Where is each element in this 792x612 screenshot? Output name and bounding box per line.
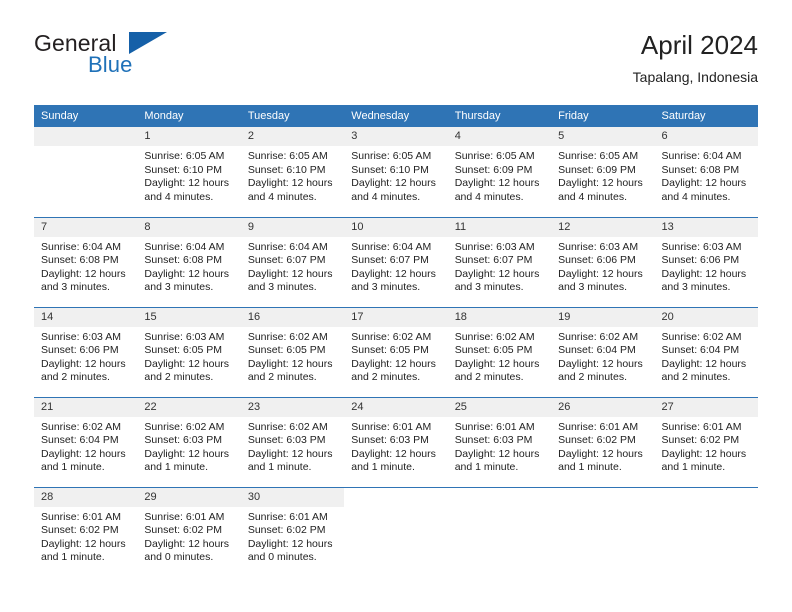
calendar-day-cell[interactable]: 1Sunrise: 6:05 AMSunset: 6:10 PMDaylight… bbox=[137, 127, 240, 217]
day-info-line: Daylight: 12 hours bbox=[455, 177, 545, 191]
day-info-line: and 2 minutes. bbox=[144, 371, 234, 385]
day-info-line: Sunset: 6:05 PM bbox=[248, 344, 338, 358]
calendar-day-cell[interactable]: 14Sunrise: 6:03 AMSunset: 6:06 PMDayligh… bbox=[34, 307, 137, 397]
calendar-day-cell[interactable]: 26Sunrise: 6:01 AMSunset: 6:02 PMDayligh… bbox=[551, 397, 654, 487]
day-info-line: Sunrise: 6:03 AM bbox=[662, 241, 752, 255]
calendar-day-cell[interactable]: 17Sunrise: 6:02 AMSunset: 6:05 PMDayligh… bbox=[344, 307, 447, 397]
day-info-line: Sunset: 6:04 PM bbox=[558, 344, 648, 358]
day-info-line: Sunset: 6:03 PM bbox=[248, 434, 338, 448]
day-number: 9 bbox=[241, 218, 344, 237]
day-info-line: Daylight: 12 hours bbox=[144, 538, 234, 552]
day-sun-info: Sunrise: 6:01 AMSunset: 6:02 PMDaylight:… bbox=[655, 417, 758, 475]
calendar-day-cell[interactable]: 19Sunrise: 6:02 AMSunset: 6:04 PMDayligh… bbox=[551, 307, 654, 397]
day-info-line: Daylight: 12 hours bbox=[248, 268, 338, 282]
day-sun-info: Sunrise: 6:02 AMSunset: 6:03 PMDaylight:… bbox=[241, 417, 344, 475]
day-sun-info: Sunrise: 6:05 AMSunset: 6:10 PMDaylight:… bbox=[241, 146, 344, 204]
calendar-day-cell[interactable]: 10Sunrise: 6:04 AMSunset: 6:07 PMDayligh… bbox=[344, 217, 447, 307]
day-info-line: Daylight: 12 hours bbox=[558, 358, 648, 372]
day-number: 23 bbox=[241, 398, 344, 417]
day-number: 24 bbox=[344, 398, 447, 417]
weekday-header-tuesday: Tuesday bbox=[241, 105, 344, 127]
day-info-line: and 1 minute. bbox=[351, 461, 441, 475]
day-sun-info: Sunrise: 6:04 AMSunset: 6:08 PMDaylight:… bbox=[34, 237, 137, 295]
calendar-empty-cell bbox=[344, 487, 447, 577]
day-sun-info: Sunrise: 6:01 AMSunset: 6:02 PMDaylight:… bbox=[34, 507, 137, 565]
day-info-line: and 3 minutes. bbox=[144, 281, 234, 295]
day-info-line: Sunrise: 6:03 AM bbox=[41, 331, 131, 345]
day-info-line: and 2 minutes. bbox=[248, 371, 338, 385]
day-sun-info: Sunrise: 6:02 AMSunset: 6:05 PMDaylight:… bbox=[241, 327, 344, 385]
day-info-line: and 2 minutes. bbox=[558, 371, 648, 385]
calendar-day-cell[interactable]: 5Sunrise: 6:05 AMSunset: 6:09 PMDaylight… bbox=[551, 127, 654, 217]
calendar-day-cell[interactable]: 11Sunrise: 6:03 AMSunset: 6:07 PMDayligh… bbox=[448, 217, 551, 307]
day-info-line: and 3 minutes. bbox=[455, 281, 545, 295]
day-info-line: Daylight: 12 hours bbox=[662, 358, 752, 372]
day-sun-info: Sunrise: 6:05 AMSunset: 6:09 PMDaylight:… bbox=[551, 146, 654, 204]
calendar-day-cell[interactable]: 9Sunrise: 6:04 AMSunset: 6:07 PMDaylight… bbox=[241, 217, 344, 307]
day-info-line: Sunset: 6:05 PM bbox=[351, 344, 441, 358]
day-info-line: Sunset: 6:04 PM bbox=[662, 344, 752, 358]
calendar-day-cell[interactable]: 12Sunrise: 6:03 AMSunset: 6:06 PMDayligh… bbox=[551, 217, 654, 307]
day-sun-info: Sunrise: 6:01 AMSunset: 6:02 PMDaylight:… bbox=[241, 507, 344, 565]
day-number: 18 bbox=[448, 308, 551, 327]
day-info-line: Sunset: 6:07 PM bbox=[351, 254, 441, 268]
page-header: General Blue April 2024 Tapalang, Indone… bbox=[34, 28, 758, 96]
general-blue-logo: General Blue bbox=[34, 30, 264, 86]
day-number: 1 bbox=[137, 127, 240, 146]
day-info-line: and 3 minutes. bbox=[558, 281, 648, 295]
day-info-line: Daylight: 12 hours bbox=[248, 448, 338, 462]
day-sun-info: Sunrise: 6:05 AMSunset: 6:10 PMDaylight:… bbox=[344, 146, 447, 204]
day-info-line: Daylight: 12 hours bbox=[248, 177, 338, 191]
day-info-line: Sunrise: 6:04 AM bbox=[662, 150, 752, 164]
day-info-line: Sunrise: 6:01 AM bbox=[662, 421, 752, 435]
day-info-line: Daylight: 12 hours bbox=[144, 448, 234, 462]
day-info-line: and 4 minutes. bbox=[558, 191, 648, 205]
day-number: 2 bbox=[241, 127, 344, 146]
day-sun-info: Sunrise: 6:02 AMSunset: 6:05 PMDaylight:… bbox=[448, 327, 551, 385]
calendar-day-cell[interactable]: 27Sunrise: 6:01 AMSunset: 6:02 PMDayligh… bbox=[655, 397, 758, 487]
day-info-line: Sunset: 6:05 PM bbox=[144, 344, 234, 358]
day-info-line: Daylight: 12 hours bbox=[455, 448, 545, 462]
weekday-header-monday: Monday bbox=[137, 105, 240, 127]
day-info-line: Daylight: 12 hours bbox=[144, 268, 234, 282]
day-info-line: and 2 minutes. bbox=[662, 371, 752, 385]
day-number: 27 bbox=[655, 398, 758, 417]
day-sun-info: Sunrise: 6:03 AMSunset: 6:06 PMDaylight:… bbox=[551, 237, 654, 295]
day-number bbox=[448, 488, 551, 507]
day-number: 25 bbox=[448, 398, 551, 417]
day-sun-info: Sunrise: 6:04 AMSunset: 6:08 PMDaylight:… bbox=[655, 146, 758, 204]
day-number: 22 bbox=[137, 398, 240, 417]
day-info-line: and 4 minutes. bbox=[455, 191, 545, 205]
day-info-line: Sunrise: 6:04 AM bbox=[248, 241, 338, 255]
day-info-line: Sunrise: 6:02 AM bbox=[41, 421, 131, 435]
day-sun-info: Sunrise: 6:04 AMSunset: 6:08 PMDaylight:… bbox=[137, 237, 240, 295]
day-number: 11 bbox=[448, 218, 551, 237]
day-info-line: Daylight: 12 hours bbox=[351, 448, 441, 462]
calendar-day-cell[interactable]: 13Sunrise: 6:03 AMSunset: 6:06 PMDayligh… bbox=[655, 217, 758, 307]
day-info-line: Sunset: 6:03 PM bbox=[144, 434, 234, 448]
day-number: 19 bbox=[551, 308, 654, 327]
day-info-line: Sunset: 6:07 PM bbox=[455, 254, 545, 268]
day-info-line: and 2 minutes. bbox=[455, 371, 545, 385]
day-info-line: Sunrise: 6:02 AM bbox=[351, 331, 441, 345]
day-number bbox=[655, 488, 758, 507]
calendar-empty-cell bbox=[655, 487, 758, 577]
day-info-line: Daylight: 12 hours bbox=[144, 358, 234, 372]
day-info-line: Sunrise: 6:05 AM bbox=[144, 150, 234, 164]
day-info-line: Sunset: 6:07 PM bbox=[248, 254, 338, 268]
day-info-line: Daylight: 12 hours bbox=[662, 448, 752, 462]
day-info-line: Sunset: 6:08 PM bbox=[662, 164, 752, 178]
day-info-line: and 1 minute. bbox=[455, 461, 545, 475]
calendar-body: 1Sunrise: 6:05 AMSunset: 6:10 PMDaylight… bbox=[34, 127, 758, 577]
day-number: 8 bbox=[137, 218, 240, 237]
day-info-line: Daylight: 12 hours bbox=[41, 358, 131, 372]
day-info-line: Sunset: 6:06 PM bbox=[662, 254, 752, 268]
day-info-line: and 4 minutes. bbox=[662, 191, 752, 205]
day-info-line: Sunrise: 6:05 AM bbox=[248, 150, 338, 164]
day-sun-info: Sunrise: 6:01 AMSunset: 6:02 PMDaylight:… bbox=[137, 507, 240, 565]
day-number bbox=[344, 488, 447, 507]
day-number: 20 bbox=[655, 308, 758, 327]
day-info-line: and 1 minute. bbox=[558, 461, 648, 475]
calendar-day-cell[interactable]: 25Sunrise: 6:01 AMSunset: 6:03 PMDayligh… bbox=[448, 397, 551, 487]
day-info-line: Daylight: 12 hours bbox=[144, 177, 234, 191]
day-info-line: Sunrise: 6:03 AM bbox=[558, 241, 648, 255]
calendar-day-cell[interactable]: 22Sunrise: 6:02 AMSunset: 6:03 PMDayligh… bbox=[137, 397, 240, 487]
day-info-line: and 3 minutes. bbox=[351, 281, 441, 295]
calendar-table: Sunday Monday Tuesday Wednesday Thursday… bbox=[34, 105, 758, 577]
calendar-week-row: 7Sunrise: 6:04 AMSunset: 6:08 PMDaylight… bbox=[34, 217, 758, 307]
day-info-line: Sunrise: 6:05 AM bbox=[558, 150, 648, 164]
day-info-line: Sunrise: 6:02 AM bbox=[662, 331, 752, 345]
day-sun-info: Sunrise: 6:04 AMSunset: 6:07 PMDaylight:… bbox=[241, 237, 344, 295]
day-number: 13 bbox=[655, 218, 758, 237]
day-number: 7 bbox=[34, 218, 137, 237]
day-info-line: Daylight: 12 hours bbox=[351, 177, 441, 191]
day-info-line: Daylight: 12 hours bbox=[41, 448, 131, 462]
day-info-line: Sunset: 6:09 PM bbox=[455, 164, 545, 178]
day-info-line: Sunrise: 6:02 AM bbox=[144, 421, 234, 435]
day-info-line: Sunset: 6:10 PM bbox=[248, 164, 338, 178]
day-info-line: Sunrise: 6:01 AM bbox=[41, 511, 131, 525]
calendar-day-cell[interactable]: 29Sunrise: 6:01 AMSunset: 6:02 PMDayligh… bbox=[137, 487, 240, 577]
calendar-week-row: 21Sunrise: 6:02 AMSunset: 6:04 PMDayligh… bbox=[34, 397, 758, 487]
day-sun-info: Sunrise: 6:03 AMSunset: 6:06 PMDaylight:… bbox=[655, 237, 758, 295]
day-sun-info: Sunrise: 6:01 AMSunset: 6:03 PMDaylight:… bbox=[448, 417, 551, 475]
day-info-line: Daylight: 12 hours bbox=[558, 268, 648, 282]
day-info-line: Sunset: 6:10 PM bbox=[351, 164, 441, 178]
day-number: 4 bbox=[448, 127, 551, 146]
calendar-day-cell[interactable]: 2Sunrise: 6:05 AMSunset: 6:10 PMDaylight… bbox=[241, 127, 344, 217]
day-info-line: and 2 minutes. bbox=[351, 371, 441, 385]
day-number: 26 bbox=[551, 398, 654, 417]
day-number: 16 bbox=[241, 308, 344, 327]
day-sun-info: Sunrise: 6:02 AMSunset: 6:04 PMDaylight:… bbox=[551, 327, 654, 385]
day-sun-info: Sunrise: 6:03 AMSunset: 6:06 PMDaylight:… bbox=[34, 327, 137, 385]
day-info-line: Sunrise: 6:02 AM bbox=[248, 331, 338, 345]
day-info-line: Sunrise: 6:01 AM bbox=[144, 511, 234, 525]
day-info-line: Sunrise: 6:01 AM bbox=[351, 421, 441, 435]
day-sun-info: Sunrise: 6:05 AMSunset: 6:10 PMDaylight:… bbox=[137, 146, 240, 204]
day-info-line: and 2 minutes. bbox=[41, 371, 131, 385]
day-info-line: Daylight: 12 hours bbox=[455, 268, 545, 282]
title-block: April 2024 Tapalang, Indonesia bbox=[633, 28, 758, 88]
calendar-day-cell[interactable]: 28Sunrise: 6:01 AMSunset: 6:02 PMDayligh… bbox=[34, 487, 137, 577]
day-number: 14 bbox=[34, 308, 137, 327]
day-info-line: Sunset: 6:05 PM bbox=[455, 344, 545, 358]
logo-text-blue: Blue bbox=[88, 52, 132, 77]
day-number: 10 bbox=[344, 218, 447, 237]
day-sun-info: Sunrise: 6:04 AMSunset: 6:07 PMDaylight:… bbox=[344, 237, 447, 295]
day-info-line: Sunset: 6:08 PM bbox=[41, 254, 131, 268]
day-info-line: and 0 minutes. bbox=[248, 551, 338, 565]
triangle-icon bbox=[129, 32, 167, 54]
day-info-line: Daylight: 12 hours bbox=[41, 268, 131, 282]
calendar-empty-cell bbox=[34, 127, 137, 217]
calendar-week-row: 14Sunrise: 6:03 AMSunset: 6:06 PMDayligh… bbox=[34, 307, 758, 397]
calendar-week-row: 1Sunrise: 6:05 AMSunset: 6:10 PMDaylight… bbox=[34, 127, 758, 217]
day-info-line: and 3 minutes. bbox=[662, 281, 752, 295]
calendar-day-cell[interactable]: 21Sunrise: 6:02 AMSunset: 6:04 PMDayligh… bbox=[34, 397, 137, 487]
day-info-line: Daylight: 12 hours bbox=[662, 177, 752, 191]
day-sun-info: Sunrise: 6:01 AMSunset: 6:02 PMDaylight:… bbox=[551, 417, 654, 475]
day-info-line: Daylight: 12 hours bbox=[558, 177, 648, 191]
day-info-line: Sunrise: 6:02 AM bbox=[248, 421, 338, 435]
day-info-line: Daylight: 12 hours bbox=[455, 358, 545, 372]
day-info-line: Sunrise: 6:01 AM bbox=[248, 511, 338, 525]
day-sun-info: Sunrise: 6:02 AMSunset: 6:04 PMDaylight:… bbox=[655, 327, 758, 385]
day-info-line: Sunset: 6:02 PM bbox=[41, 524, 131, 538]
day-info-line: Sunrise: 6:01 AM bbox=[558, 421, 648, 435]
day-info-line: and 1 minute. bbox=[41, 461, 131, 475]
day-number: 12 bbox=[551, 218, 654, 237]
calendar-day-cell[interactable]: 20Sunrise: 6:02 AMSunset: 6:04 PMDayligh… bbox=[655, 307, 758, 397]
day-number: 17 bbox=[344, 308, 447, 327]
day-sun-info: Sunrise: 6:01 AMSunset: 6:03 PMDaylight:… bbox=[344, 417, 447, 475]
weekday-header-sunday: Sunday bbox=[34, 105, 137, 127]
day-info-line: Daylight: 12 hours bbox=[41, 538, 131, 552]
day-info-line: Sunrise: 6:04 AM bbox=[144, 241, 234, 255]
calendar-day-cell[interactable]: 7Sunrise: 6:04 AMSunset: 6:08 PMDaylight… bbox=[34, 217, 137, 307]
day-info-line: Daylight: 12 hours bbox=[248, 358, 338, 372]
day-sun-info: Sunrise: 6:03 AMSunset: 6:05 PMDaylight:… bbox=[137, 327, 240, 385]
calendar-page: General Blue April 2024 Tapalang, Indone… bbox=[0, 0, 792, 612]
day-info-line: Sunrise: 6:03 AM bbox=[144, 331, 234, 345]
calendar-day-cell[interactable]: 6Sunrise: 6:04 AMSunset: 6:08 PMDaylight… bbox=[655, 127, 758, 217]
weekday-header-wednesday: Wednesday bbox=[344, 105, 447, 127]
weekday-header-thursday: Thursday bbox=[448, 105, 551, 127]
day-info-line: Sunrise: 6:04 AM bbox=[351, 241, 441, 255]
calendar-day-cell[interactable]: 24Sunrise: 6:01 AMSunset: 6:03 PMDayligh… bbox=[344, 397, 447, 487]
day-info-line: Daylight: 12 hours bbox=[662, 268, 752, 282]
day-info-line: and 0 minutes. bbox=[144, 551, 234, 565]
day-sun-info: Sunrise: 6:02 AMSunset: 6:03 PMDaylight:… bbox=[137, 417, 240, 475]
day-sun-info: Sunrise: 6:03 AMSunset: 6:07 PMDaylight:… bbox=[448, 237, 551, 295]
day-number: 6 bbox=[655, 127, 758, 146]
calendar-day-cell[interactable]: 16Sunrise: 6:02 AMSunset: 6:05 PMDayligh… bbox=[241, 307, 344, 397]
day-info-line: Daylight: 12 hours bbox=[351, 268, 441, 282]
day-number: 30 bbox=[241, 488, 344, 507]
calendar-day-cell[interactable]: 18Sunrise: 6:02 AMSunset: 6:05 PMDayligh… bbox=[448, 307, 551, 397]
day-info-line: and 1 minute. bbox=[248, 461, 338, 475]
calendar-day-cell[interactable]: 3Sunrise: 6:05 AMSunset: 6:10 PMDaylight… bbox=[344, 127, 447, 217]
day-sun-info: Sunrise: 6:02 AMSunset: 6:04 PMDaylight:… bbox=[34, 417, 137, 475]
calendar-day-cell[interactable]: 15Sunrise: 6:03 AMSunset: 6:05 PMDayligh… bbox=[137, 307, 240, 397]
day-info-line: Sunset: 6:08 PM bbox=[144, 254, 234, 268]
day-info-line: Daylight: 12 hours bbox=[351, 358, 441, 372]
calendar-empty-cell bbox=[448, 487, 551, 577]
day-info-line: Sunrise: 6:04 AM bbox=[41, 241, 131, 255]
day-number: 5 bbox=[551, 127, 654, 146]
day-info-line: Sunrise: 6:02 AM bbox=[558, 331, 648, 345]
day-info-line: Sunset: 6:10 PM bbox=[144, 164, 234, 178]
day-info-line: and 3 minutes. bbox=[41, 281, 131, 295]
day-info-line: Sunset: 6:04 PM bbox=[41, 434, 131, 448]
day-info-line: Sunset: 6:02 PM bbox=[144, 524, 234, 538]
day-info-line: Sunset: 6:06 PM bbox=[41, 344, 131, 358]
day-info-line: and 4 minutes. bbox=[144, 191, 234, 205]
calendar-day-cell[interactable]: 23Sunrise: 6:02 AMSunset: 6:03 PMDayligh… bbox=[241, 397, 344, 487]
day-sun-info: Sunrise: 6:02 AMSunset: 6:05 PMDaylight:… bbox=[344, 327, 447, 385]
day-info-line: Sunset: 6:02 PM bbox=[662, 434, 752, 448]
day-number: 3 bbox=[344, 127, 447, 146]
calendar-day-cell[interactable]: 30Sunrise: 6:01 AMSunset: 6:02 PMDayligh… bbox=[241, 487, 344, 577]
weekday-header-saturday: Saturday bbox=[655, 105, 758, 127]
weekday-header-row: Sunday Monday Tuesday Wednesday Thursday… bbox=[34, 105, 758, 127]
day-number bbox=[551, 488, 654, 507]
page-title: April 2024 bbox=[633, 28, 758, 62]
day-info-line: Daylight: 12 hours bbox=[558, 448, 648, 462]
calendar-day-cell[interactable]: 4Sunrise: 6:05 AMSunset: 6:09 PMDaylight… bbox=[448, 127, 551, 217]
day-number bbox=[34, 127, 137, 146]
day-info-line: Sunset: 6:02 PM bbox=[558, 434, 648, 448]
day-info-line: Sunset: 6:02 PM bbox=[248, 524, 338, 538]
logo-blue-row: Blue bbox=[34, 54, 264, 79]
day-info-line: and 1 minute. bbox=[662, 461, 752, 475]
day-info-line: and 4 minutes. bbox=[248, 191, 338, 205]
day-sun-info: Sunrise: 6:05 AMSunset: 6:09 PMDaylight:… bbox=[448, 146, 551, 204]
page-subtitle: Tapalang, Indonesia bbox=[633, 66, 758, 88]
day-number: 15 bbox=[137, 308, 240, 327]
calendar-day-cell[interactable]: 8Sunrise: 6:04 AMSunset: 6:08 PMDaylight… bbox=[137, 217, 240, 307]
day-number: 21 bbox=[34, 398, 137, 417]
day-info-line: and 4 minutes. bbox=[351, 191, 441, 205]
calendar-empty-cell bbox=[551, 487, 654, 577]
day-info-line: and 1 minute. bbox=[41, 551, 131, 565]
day-info-line: Sunrise: 6:03 AM bbox=[455, 241, 545, 255]
day-info-line: Sunrise: 6:01 AM bbox=[455, 421, 545, 435]
day-number: 28 bbox=[34, 488, 137, 507]
day-info-line: Daylight: 12 hours bbox=[248, 538, 338, 552]
day-info-line: and 1 minute. bbox=[144, 461, 234, 475]
day-info-line: Sunset: 6:03 PM bbox=[351, 434, 441, 448]
day-info-line: Sunset: 6:03 PM bbox=[455, 434, 545, 448]
day-info-line: Sunrise: 6:02 AM bbox=[455, 331, 545, 345]
day-info-line: Sunrise: 6:05 AM bbox=[351, 150, 441, 164]
day-info-line: Sunset: 6:06 PM bbox=[558, 254, 648, 268]
day-info-line: Sunset: 6:09 PM bbox=[558, 164, 648, 178]
day-info-line: Sunrise: 6:05 AM bbox=[455, 150, 545, 164]
calendar-week-row: 28Sunrise: 6:01 AMSunset: 6:02 PMDayligh… bbox=[34, 487, 758, 577]
weekday-header-friday: Friday bbox=[551, 105, 654, 127]
day-number: 29 bbox=[137, 488, 240, 507]
day-info-line: and 3 minutes. bbox=[248, 281, 338, 295]
